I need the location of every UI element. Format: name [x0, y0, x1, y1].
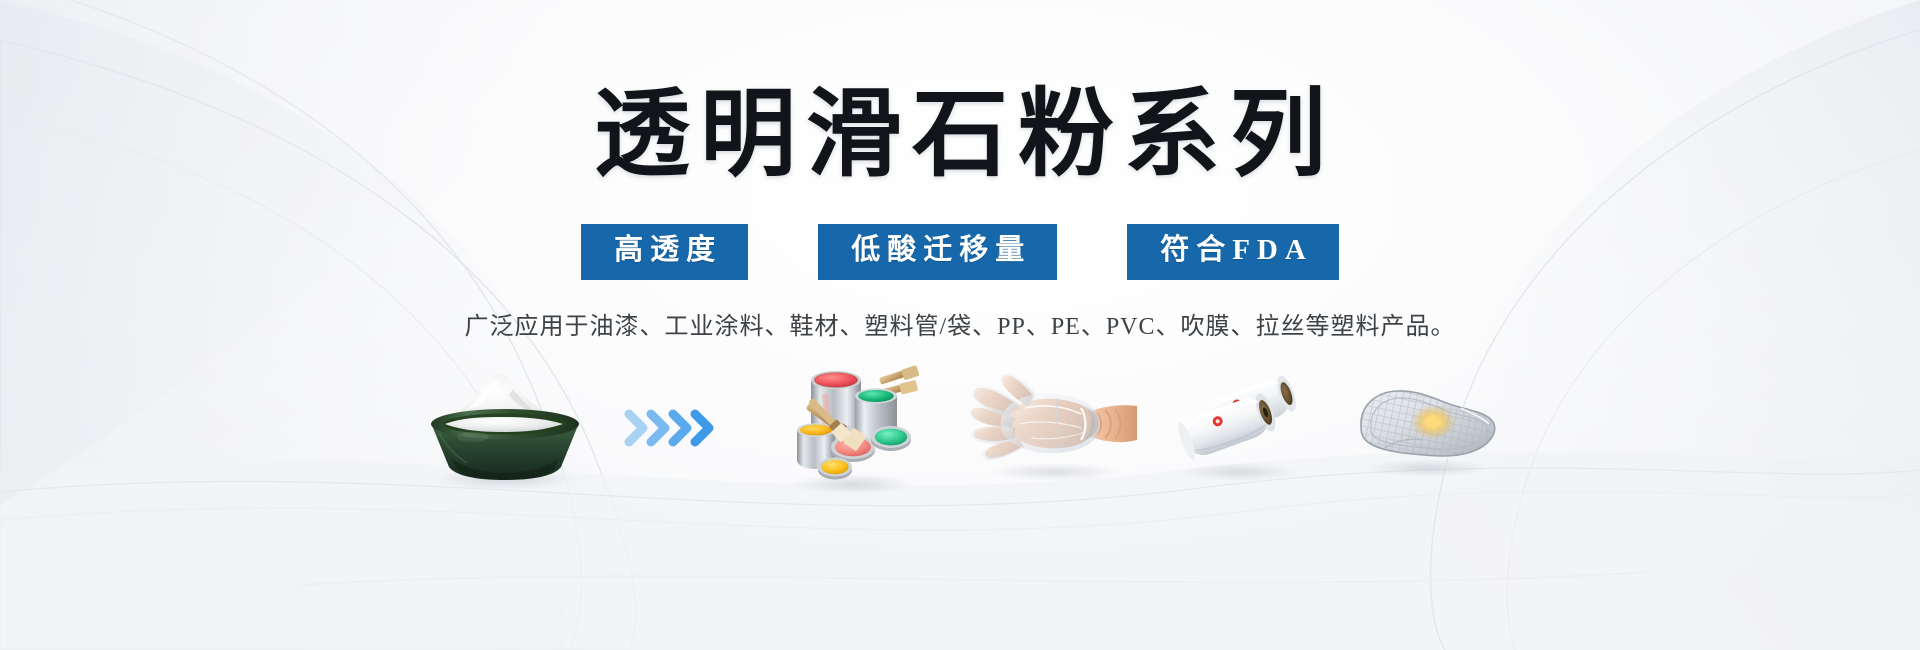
shoe-sole-image	[1341, 363, 1511, 493]
badge-fda-compliant: 符合FDA	[1127, 224, 1339, 280]
product-banner: 透明滑石粉系列 高透度 低酸迁移量 符合FDA 广泛应用于油漆、工业涂料、鞋材、…	[0, 0, 1920, 650]
product-application-strip	[0, 358, 1920, 498]
badge-high-transparency: 高透度	[581, 224, 748, 280]
paint-cans-image	[775, 358, 925, 498]
plastic-film-rolls-image	[1165, 363, 1315, 493]
plastic-glove-hand-image	[969, 363, 1139, 493]
process-arrows-icon	[621, 363, 731, 493]
page-title: 透明滑石粉系列	[0, 84, 1920, 186]
badge-low-acid-migration: 低酸迁移量	[818, 224, 1057, 280]
feature-badge-list: 高透度 低酸迁移量 符合FDA	[0, 224, 1920, 280]
talc-powder-bowl-image	[409, 363, 599, 493]
application-description: 广泛应用于油漆、工业涂料、鞋材、塑料管/袋、PP、PE、PVC、吹膜、拉丝等塑料…	[0, 306, 1920, 341]
